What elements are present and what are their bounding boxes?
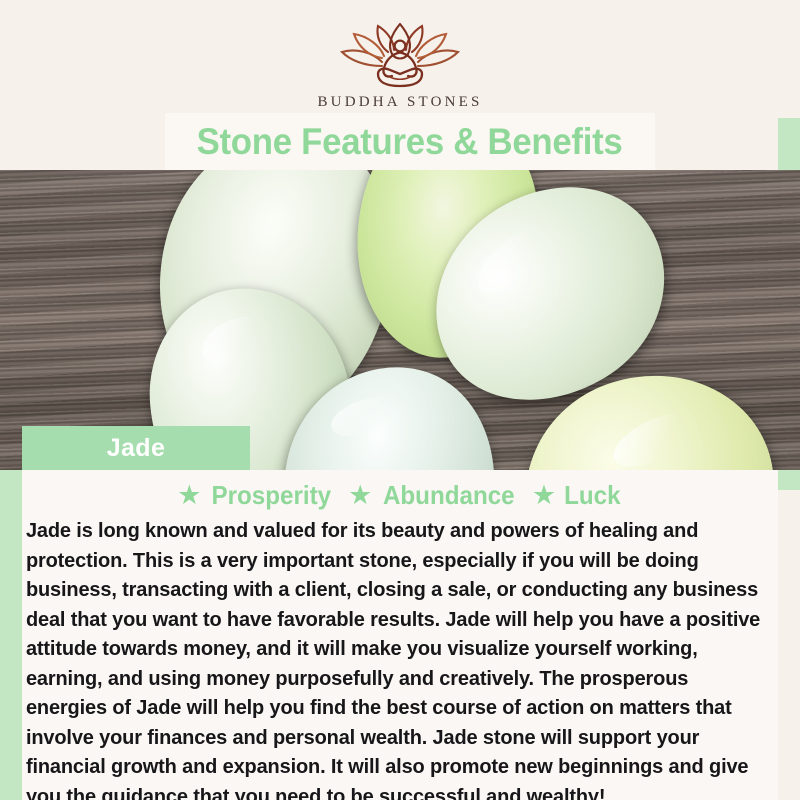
benefits-row: ★ Prosperity ★ Abundance ★ Luck [22, 470, 778, 515]
stone-name-badge: Jade [22, 426, 250, 470]
lotus-meditation-figure-icon [320, 22, 480, 90]
page-title-band: Stone Features & Benefits [165, 113, 655, 170]
page-title: Stone Features & Benefits [197, 121, 623, 163]
logo-wrap: BUDDHA STONES [0, 22, 800, 111]
stone-description: Jade is long known and valued for its be… [22, 515, 767, 800]
stone-name: Jade [107, 434, 166, 463]
jade-stones-photo [0, 170, 800, 470]
benefit-item: ★ Luck [532, 480, 623, 511]
brand-name: BUDDHA STONES [0, 94, 800, 111]
benefit-label: Abundance [383, 480, 515, 511]
star-icon: ★ [177, 482, 201, 509]
benefit-item: ★ Prosperity [177, 480, 336, 511]
brand-header: BUDDHA STONES [0, 0, 800, 118]
benefit-label: Luck [564, 480, 620, 511]
benefit-label: Prosperity [212, 480, 332, 511]
benefit-item: ★ Abundance [348, 480, 520, 511]
star-icon: ★ [348, 482, 372, 509]
content-panel: ★ Prosperity ★ Abundance ★ Luck Jade is … [22, 470, 778, 800]
infographic-page: BUDDHA STONES Stone Features & Benefits … [0, 0, 800, 800]
star-icon: ★ [532, 482, 556, 509]
